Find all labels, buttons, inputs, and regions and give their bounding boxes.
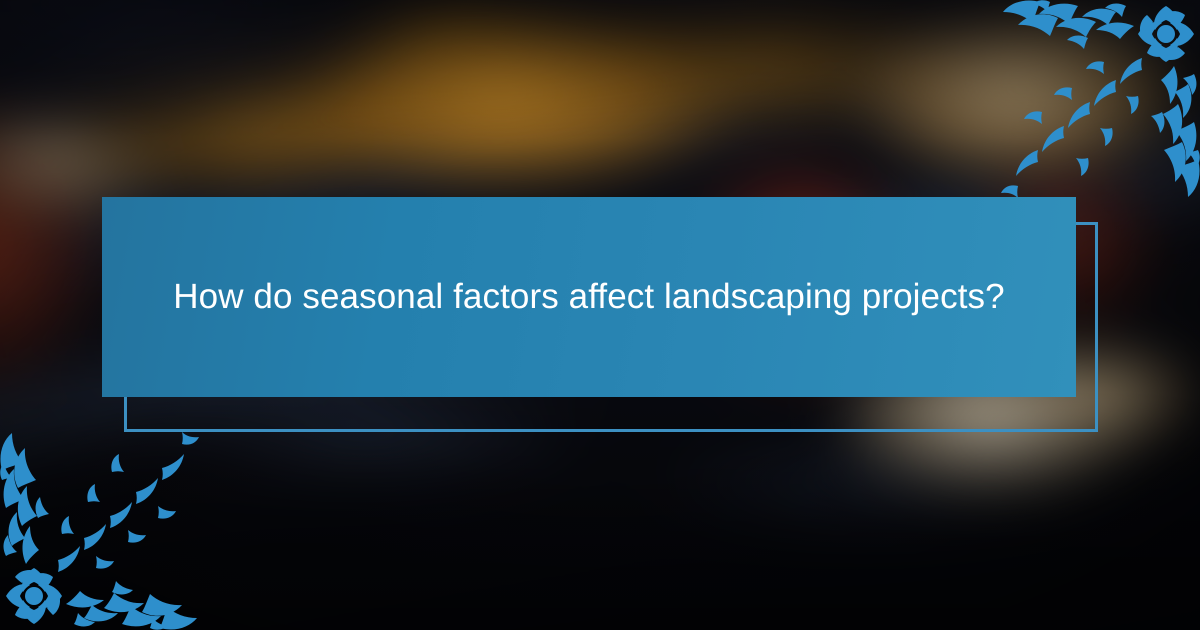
social-card: How do seasonal factors affect landscapi…	[0, 0, 1200, 630]
headline-plate: How do seasonal factors affect landscapi…	[102, 197, 1076, 397]
headline-text: How do seasonal factors affect landscapi…	[173, 270, 1004, 324]
